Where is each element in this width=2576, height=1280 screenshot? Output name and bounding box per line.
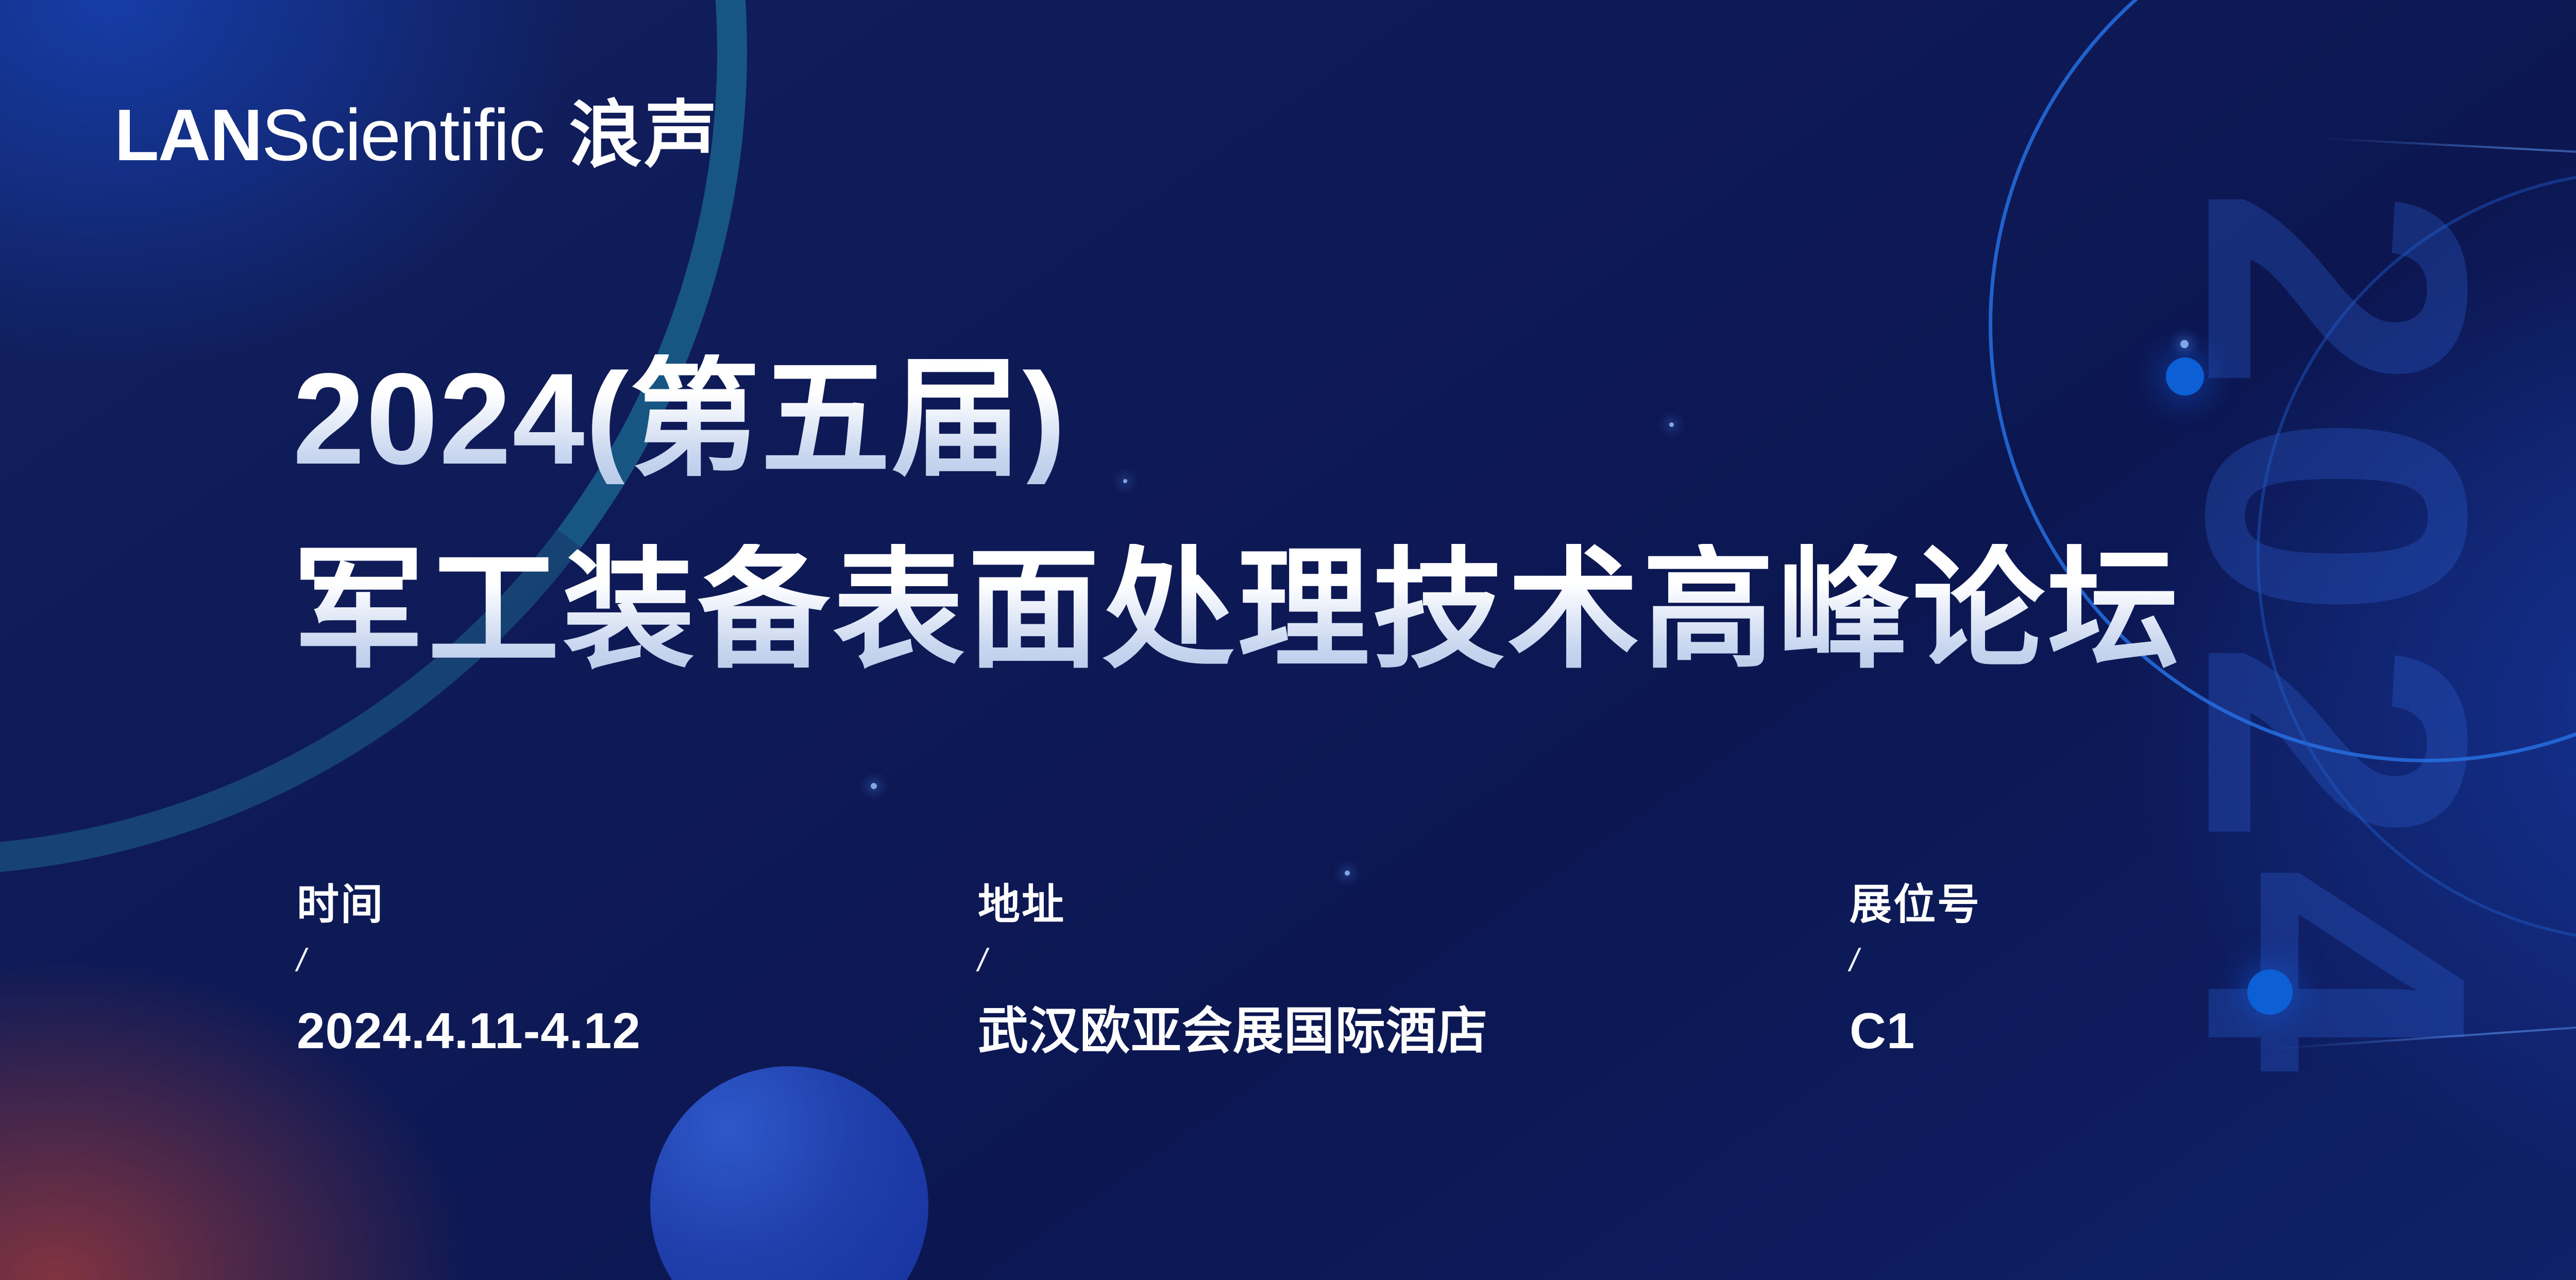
info-label-time: 时间 — [297, 884, 641, 926]
info-value-address: 武汉欧亚会展国际酒店 — [978, 1005, 1488, 1056]
company-logo: LANScientific浪声 — [114, 99, 719, 172]
info-value-time: 2024.4.11-4.12 — [297, 1005, 641, 1056]
info-separator-address: / — [978, 945, 1488, 977]
logo-text-lan: LAN — [114, 94, 262, 176]
event-banner: 2024 LANScientific浪声 2024(第五届) 军工装备表面处理技… — [0, 0, 2576, 1280]
logo-text-chinese: 浪声 — [569, 94, 719, 176]
info-label-address: 地址 — [978, 884, 1488, 926]
info-label-booth: 展位号 — [1850, 884, 1981, 926]
event-title-line-2: 军工装备表面处理技术高峰论坛 — [293, 544, 2182, 676]
info-block-time: 时间 / 2024.4.11-4.12 — [297, 884, 641, 1056]
info-separator-time: / — [297, 945, 641, 977]
logo-text-scientific: Scientific — [262, 94, 544, 176]
info-separator-booth: / — [1850, 945, 1981, 977]
info-block-booth: 展位号 / C1 — [1850, 884, 1981, 1056]
info-block-address: 地址 / 武汉欧亚会展国际酒店 — [978, 884, 1488, 1056]
event-title-line-1: 2024(第五届) — [293, 354, 1066, 484]
info-value-booth: C1 — [1850, 1005, 1981, 1056]
